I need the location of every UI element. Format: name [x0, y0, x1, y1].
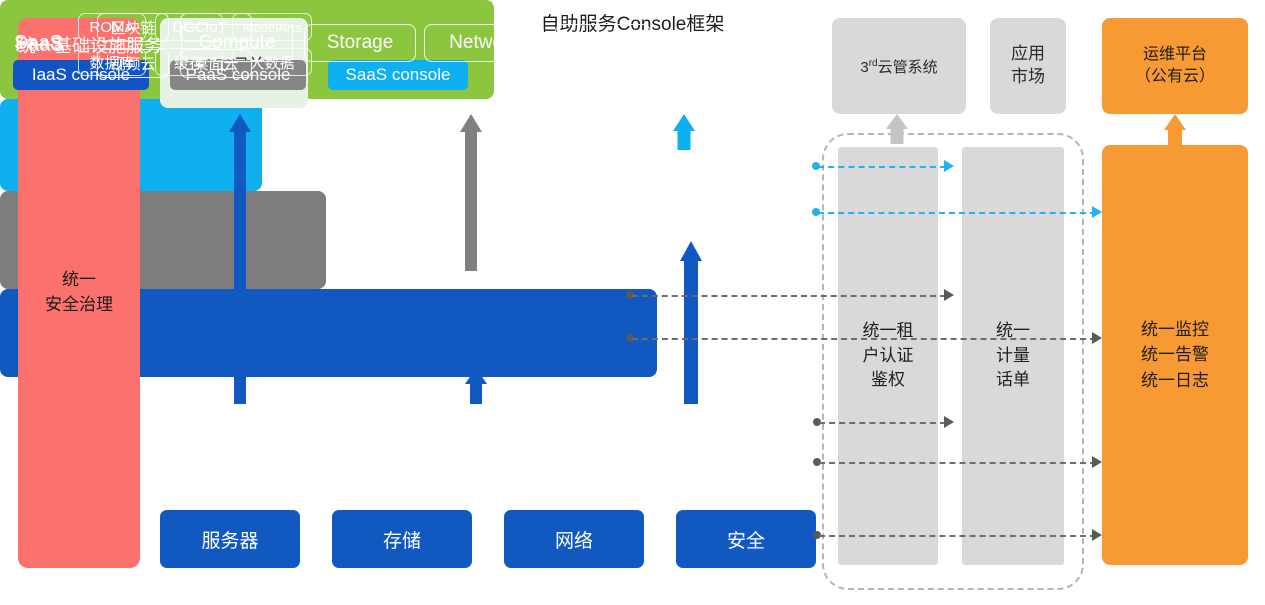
ops-top-line-2: （公有云）	[1135, 66, 1215, 88]
arrow-middleware-to-third-cloud	[880, 114, 914, 144]
connector-paas-to-auth	[632, 295, 946, 297]
connector-saas-to-ops	[818, 212, 1096, 214]
security-line-2: 安全治理	[45, 293, 113, 318]
connector-arrowhead-saas-auth	[944, 160, 954, 172]
infra-service-cce[interactable]: CCE	[555, 24, 651, 62]
connector-saas-to-auth	[818, 166, 946, 168]
hardware-storage-box[interactable]: 存储	[332, 510, 472, 568]
unified-security-governance-panel: 统一 安全治理	[18, 18, 140, 568]
third-party-cloud-management-box: 3rd云管系统	[832, 18, 966, 114]
connector-arrowhead-saas-ops	[1092, 206, 1102, 218]
third-cloud-label: 3rd云管系统	[860, 56, 937, 77]
ops-side-line-2: 统一告警	[1141, 342, 1209, 368]
app-market-line-1: 应用	[1011, 43, 1045, 66]
connector-arrowhead-infra-auth	[944, 416, 954, 428]
hardware-security-box[interactable]: 安全	[676, 510, 816, 568]
connector-infra-to-ops	[819, 462, 1096, 464]
hardware-server-box[interactable]: 服务器	[160, 510, 300, 568]
saas-console-badge[interactable]: SaaS console	[328, 60, 468, 90]
connector-hardware-to-ops	[819, 535, 1096, 537]
connector-arrowhead-paas-ops	[1092, 332, 1102, 344]
infra-service-network[interactable]: Network	[424, 24, 544, 62]
auth-line-2: 户认证	[863, 344, 914, 369]
arrow-saas-to-console	[667, 114, 701, 150]
security-line-1: 统一	[45, 268, 113, 293]
ops-platform-public-cloud-box: 运维平台 （公有云）	[1102, 18, 1248, 114]
infra-service-compute[interactable]: Compute	[181, 24, 293, 62]
connector-arrowhead-paas-auth	[944, 289, 954, 301]
connector-arrowhead-infra-ops	[1092, 456, 1102, 468]
unified-monitoring-panel: 统一监控 统一告警 统一日志	[1102, 145, 1248, 565]
auth-line-3: 鉴权	[863, 368, 914, 393]
arrow-middleware-to-ops-platform	[1158, 114, 1192, 146]
infra-service-storage[interactable]: Storage	[304, 24, 416, 62]
billing-line-3: 话单	[996, 368, 1030, 393]
arrow-infra-to-api-gateway	[223, 114, 257, 404]
billing-line-2: 计量	[996, 344, 1030, 369]
arrow-infra-to-saas	[674, 241, 708, 404]
app-market-line-2: 市场	[1011, 66, 1045, 89]
connector-arrowhead-hardware-ops	[1092, 529, 1102, 541]
connector-paas-to-ops	[632, 338, 1096, 340]
app-market-box: 应用 市场	[990, 18, 1066, 114]
ops-side-line-3: 统一日志	[1141, 368, 1209, 394]
arrow-paas-to-console	[454, 114, 488, 271]
infra-label: 统一基础设施服务	[18, 32, 162, 58]
architecture-diagram: 统一 安全治理 API网关 自助服务Console框架 IaaS console…	[0, 0, 1265, 605]
hardware-network-box[interactable]: 网络	[504, 510, 644, 568]
ops-side-line-1: 统一监控	[1141, 317, 1209, 343]
connector-infra-to-auth	[819, 422, 946, 424]
unified-billing-column: 统一 计量 话单	[962, 147, 1064, 565]
unified-tenant-auth-column: 统一租 户认证 鉴权	[838, 147, 938, 565]
ops-top-line-1: 运维平台	[1135, 44, 1215, 66]
arrow-infra-to-paas	[459, 368, 493, 404]
